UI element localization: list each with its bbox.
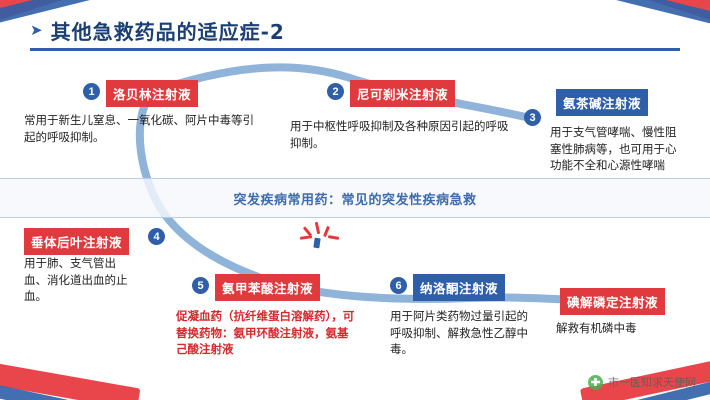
node-body-4: 用于肺、支气管出血、消化道出血的止血。 bbox=[24, 255, 130, 305]
node-title-6[interactable]: 纳洛酮注射液 bbox=[413, 274, 505, 301]
node-title-4[interactable]: 垂体后叶注射液 bbox=[24, 228, 129, 255]
node-title-3[interactable]: 氨茶碱注射液 bbox=[556, 89, 648, 116]
title-divider bbox=[30, 48, 680, 51]
watermark-bottom-right-text: 市一医知求天使网 bbox=[608, 374, 696, 390]
decor-ribbon-top-right bbox=[590, 0, 710, 46]
decor-burst-icon bbox=[300, 222, 340, 252]
node-body-5: 促凝血药（抗纤维蛋白溶解药），可替换药物：氨甲环酸注射液，氨基己酸注射液 bbox=[176, 308, 356, 358]
page-title: ➤ 其他急救药品的适应症-2 bbox=[30, 16, 285, 45]
watermark-banner-text: 突发疾病常用药：常见的突发性疾病急救 bbox=[233, 189, 476, 208]
node-badge-3: 3 bbox=[524, 109, 541, 126]
node-title-1[interactable]: 洛贝林注射液 bbox=[106, 80, 198, 107]
slide-canvas: ➤ 其他急救药品的适应症-2 1 洛贝林注射液 常用于新生儿窒息、一氧化碳、阿片… bbox=[0, 0, 710, 400]
node-body-6: 用于阿片类药物过量引起的呼吸抑制、解救急性乙醇中毒。 bbox=[390, 308, 535, 358]
node-badge-5: 5 bbox=[192, 277, 209, 294]
chevron-right-icon: ➤ bbox=[30, 23, 43, 38]
node-title-2[interactable]: 尼可刹米注射液 bbox=[350, 80, 455, 107]
node-badge-6: 6 bbox=[390, 277, 407, 294]
decor-ribbon-bottom-left bbox=[0, 340, 160, 400]
node-body-7: 解救有机磷中毒 bbox=[556, 320, 696, 337]
hospital-cross-icon bbox=[588, 375, 603, 390]
node-badge-2: 2 bbox=[327, 83, 344, 100]
node-body-1: 常用于新生儿窒息、一氧化碳、阿片中毒等引起的呼吸抑制。 bbox=[24, 112, 254, 145]
node-body-2: 用于中枢性呼吸抑制及各种原因引起的呼吸抑制。 bbox=[290, 118, 515, 151]
node-badge-1: 1 bbox=[83, 83, 100, 100]
node-title-5[interactable]: 氨甲苯酸注射液 bbox=[215, 274, 320, 301]
decor-ribbon-bottom-right bbox=[560, 340, 710, 400]
watermark-bottom-right: 市一医知求天使网 bbox=[588, 374, 696, 390]
watermark-banner-line-top bbox=[0, 178, 710, 179]
node-title-7[interactable]: 碘解磷定注射液 bbox=[560, 288, 665, 315]
node-body-3: 用于支气管哮喘、慢性阻塞性肺病等，也可用于心功能不全和心源性哮喘 bbox=[550, 124, 682, 174]
watermark-banner-line-bottom bbox=[0, 217, 710, 218]
page-title-text: 其他急救药品的适应症-2 bbox=[51, 16, 285, 45]
watermark-banner: 突发疾病常用药：常见的突发性疾病急救 bbox=[0, 178, 710, 218]
node-badge-4: 4 bbox=[148, 228, 165, 245]
